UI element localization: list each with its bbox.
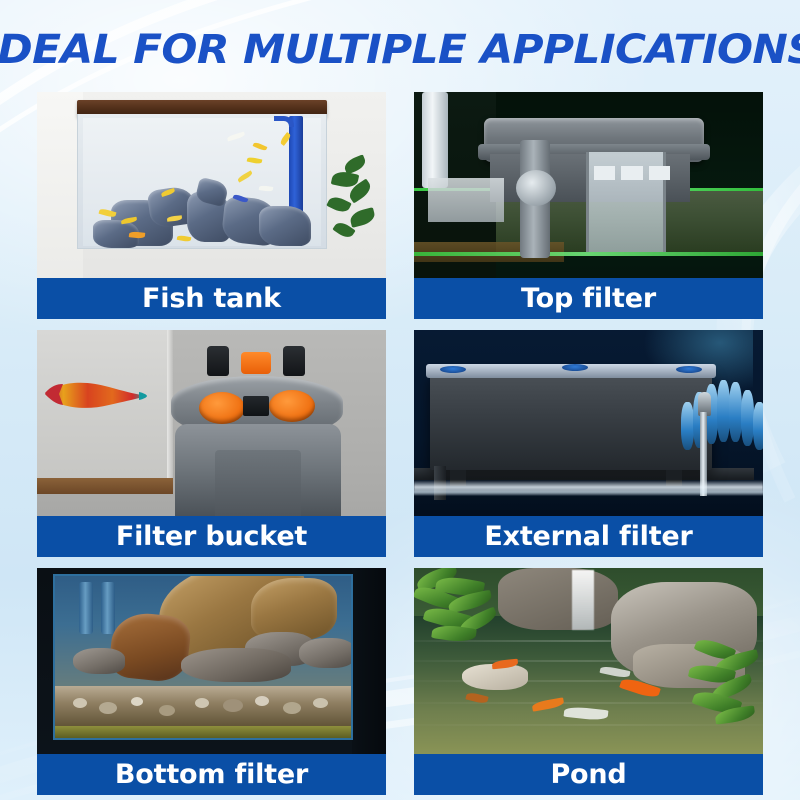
page-title-container: IDEAL FOR MULTIPLE APPLICATIONS — [0, 28, 800, 72]
caption-label: External filter — [484, 523, 692, 550]
page-title: IDEAL FOR MULTIPLE APPLICATIONS — [0, 28, 800, 72]
caption-bar-top-filter: Top filter — [414, 278, 763, 319]
corrugated-hose-icon — [677, 374, 763, 458]
caption-bar-filter-bucket: Filter bucket — [37, 516, 386, 557]
application-card-top-filter[interactable]: Top filter — [414, 92, 763, 319]
caption-label: Top filter — [521, 285, 656, 312]
arowana-fish-icon — [43, 378, 149, 412]
infographic-page: IDEAL FOR MULTIPLE APPLICATIONS — [0, 0, 800, 800]
caption-bar-pond: Pond — [414, 754, 763, 795]
caption-bar-bottom-filter: Bottom filter — [37, 754, 386, 795]
application-grid: Fish tank — [37, 92, 763, 795]
fern-cluster-right — [685, 640, 763, 732]
application-card-filter-bucket[interactable]: Filter bucket — [37, 330, 386, 557]
caption-label: Pond — [550, 761, 626, 788]
caption-label: Fish tank — [142, 285, 281, 312]
caption-bar-fish-tank: Fish tank — [37, 278, 386, 319]
caption-label: Bottom filter — [115, 761, 308, 788]
caption-bar-external-filter: External filter — [414, 516, 763, 557]
application-card-external-filter[interactable]: External filter — [414, 330, 763, 557]
fern-cluster-left — [414, 568, 518, 646]
application-card-pond[interactable]: Pond — [414, 568, 763, 795]
caption-label: Filter bucket — [116, 523, 307, 550]
application-card-fish-tank[interactable]: Fish tank — [37, 92, 386, 319]
application-card-bottom-filter[interactable]: Bottom filter — [37, 568, 386, 795]
